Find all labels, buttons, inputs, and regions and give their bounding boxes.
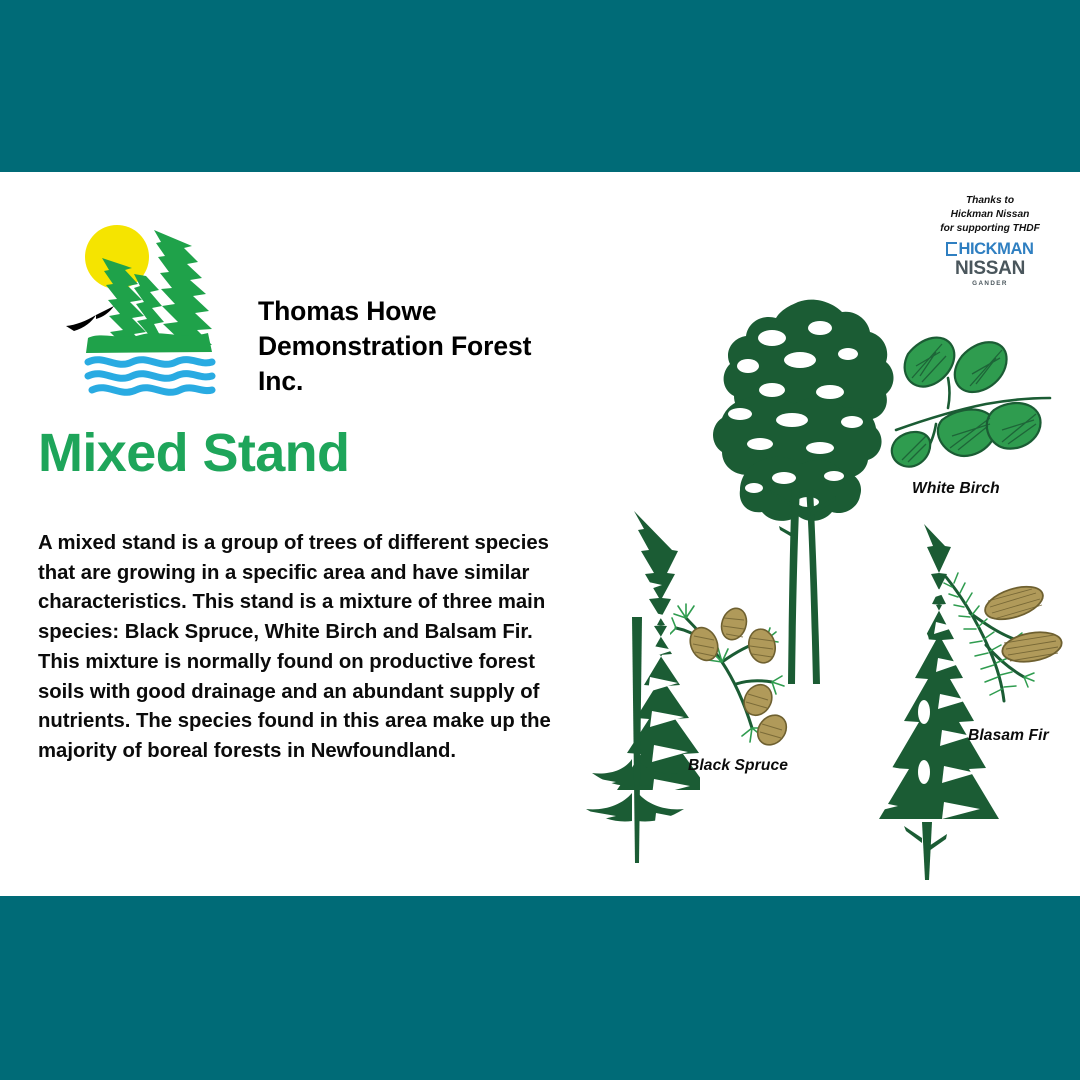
white-content-panel: Thomas Howe Demonstration Forest Inc. Th… (0, 172, 1080, 896)
top-teal-band (0, 0, 1080, 172)
page-title: Mixed Stand (38, 426, 349, 480)
organization-name: Thomas Howe Demonstration Forest Inc. (258, 294, 568, 400)
interpretive-sign-board: Thomas Howe Demonstration Forest Inc. Th… (0, 0, 1080, 1080)
species-label-black-spruce: Black Spruce (688, 757, 788, 775)
bottom-teal-band (0, 896, 1080, 1080)
species-label-balsam-fir: Blasam Fir (968, 727, 1049, 745)
hickman-h-glyph-icon (946, 242, 957, 256)
organization-name-line-1: Thomas Howe (258, 294, 568, 329)
nissan-wordmark: NISSAN (920, 259, 1060, 279)
species-label-white-birch: White Birch (912, 480, 1000, 498)
hickman-wordmark: HICKMAN (920, 241, 1060, 258)
birch-leaf-branch-icon (890, 312, 1065, 487)
organization-logo-lockup: Thomas Howe Demonstration Forest Inc. (62, 212, 562, 412)
species-illustration-group: White Birch Black Spruce Blasam Fir (560, 292, 1080, 892)
organization-name-line-2: Demonstration Forest (258, 329, 568, 364)
sponsor-thanks-text: Thanks to Hickman Nissan for supporting … (920, 194, 1060, 236)
body-paragraph: A mixed stand is a group of trees of dif… (38, 529, 562, 767)
dealership-location: GANDER (920, 280, 1060, 287)
sponsor-acknowledgement: Thanks to Hickman Nissan for supporting … (920, 194, 1060, 287)
organization-name-line-3: Inc. (258, 364, 568, 399)
balsam-fir-cone-branch-icon (940, 567, 1080, 707)
hickman-nissan-logo: HICKMAN NISSAN GANDER (920, 241, 1060, 287)
forest-logo-icon (62, 212, 230, 398)
hickman-wordmark-text: HICKMAN (958, 241, 1033, 258)
black-spruce-cone-branch-icon (670, 582, 800, 752)
